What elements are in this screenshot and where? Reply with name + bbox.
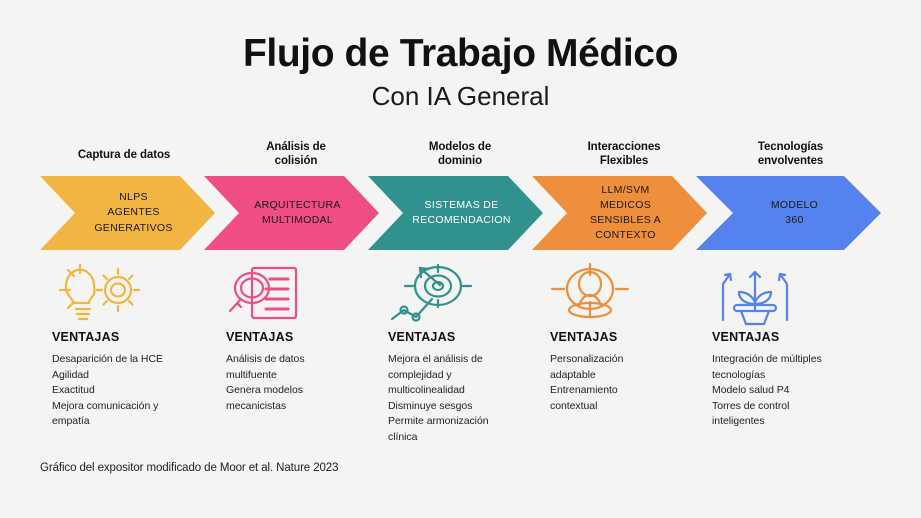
process-step-3-label: SISTEMAS DE RECOMENDACION (392, 198, 518, 228)
benefit-item: Mejora comunicación y (52, 399, 217, 415)
process-step-1-label: NLPS AGENTES GENERATIVOS (74, 190, 180, 236)
benefits-block-4: VENTAJAS Personalización adaptable Entre… (550, 330, 700, 414)
process-step-3[interactable]: SISTEMAS DE RECOMENDACION (368, 176, 543, 250)
benefits-list-2: Análisis de datos multifuente Genera mod… (226, 352, 376, 414)
benefits-list-4: Personalización adaptable Entrenamiento … (550, 352, 700, 414)
benefit-item: Exactitud (52, 383, 217, 399)
benefit-item: empatía (52, 414, 217, 430)
person-target-icon (550, 262, 630, 329)
benefit-item: Mejora el análisis de (388, 352, 548, 368)
benefit-item: clínica (388, 430, 548, 446)
process-step-1[interactable]: NLPS AGENTES GENERATIVOS (40, 176, 215, 250)
process-arrow-band: NLPS AGENTES GENERATIVOS ARQUITECTURA MU… (0, 176, 921, 250)
benefit-item: Personalización (550, 352, 700, 368)
page-subtitle: Con IA General (0, 82, 921, 111)
benefits-block-2: VENTAJAS Análisis de datos multifuente G… (226, 330, 376, 414)
step-header-4: InteraccionesFlexibles (544, 140, 704, 169)
page-title: Flujo de Trabajo Médico (0, 33, 921, 76)
benefit-item: mecanicistas (226, 399, 376, 415)
source-caption: Gráfico del expositor modificado de Moor… (40, 462, 338, 474)
lightbulb-gear-icon (52, 262, 156, 329)
benefit-item: Genera modelos (226, 383, 376, 399)
benefit-item: Disminuye sesgos (388, 399, 548, 415)
benefit-item: adaptable (550, 368, 700, 384)
benefit-item: Modelo salud P4 (712, 383, 882, 399)
benefits-title-3: VENTAJAS (388, 330, 548, 344)
benefits-block-5: VENTAJAS Integración de múltiples tecnol… (712, 330, 882, 430)
benefit-item: complejidad y (388, 368, 548, 384)
benefit-item: inteligentes (712, 414, 882, 430)
benefits-title-1: VENTAJAS (52, 330, 217, 344)
benefit-item: multifuente (226, 368, 376, 384)
step-header-3: Modelos dedominio (380, 140, 540, 169)
benefits-block-3: VENTAJAS Mejora el análisis de complejid… (388, 330, 548, 445)
benefit-item: contextual (550, 399, 700, 415)
benefit-item: Desaparición de la HCE (52, 352, 217, 368)
magnifier-document-icon (226, 262, 316, 329)
benefit-item: tecnologías (712, 368, 882, 384)
benefit-item: Entrenamiento (550, 383, 700, 399)
infographic-canvas: Flujo de Trabajo Médico Con IA General C… (0, 0, 921, 518)
benefits-title-2: VENTAJAS (226, 330, 376, 344)
step-header-5: Tecnologíasenvolventes (708, 140, 873, 169)
benefit-item: Torres de control (712, 399, 882, 415)
benefits-list-1: Desaparición de la HCE Agilidad Exactitu… (52, 352, 217, 430)
benefit-item: Integración de múltiples (712, 352, 882, 368)
plant-growth-icon (712, 262, 798, 331)
benefits-block-1: VENTAJAS Desaparición de la HCE Agilidad… (52, 330, 217, 430)
benefits-title-5: VENTAJAS (712, 330, 882, 344)
process-step-4-label: LLM/SVM MEDICOS SENSIBLES A CONTEXTO (570, 183, 669, 244)
target-arrow-network-icon (388, 262, 480, 331)
step-header-1: Captura de datos (44, 148, 204, 162)
benefit-item: multicolinealidad (388, 383, 548, 399)
benefit-item: Análisis de datos (226, 352, 376, 368)
benefits-list-5: Integración de múltiples tecnologías Mod… (712, 352, 882, 430)
process-step-5-label: MODELO 360 (751, 198, 826, 228)
benefit-item: Permite armonización (388, 414, 548, 430)
benefits-title-4: VENTAJAS (550, 330, 700, 344)
process-step-2[interactable]: ARQUITECTURA MULTIMODAL (204, 176, 379, 250)
step-header-2: Análisis decolisión (216, 140, 376, 169)
benefits-list-3: Mejora el análisis de complejidad y mult… (388, 352, 548, 445)
process-step-2-label: ARQUITECTURA MULTIMODAL (234, 198, 348, 228)
process-step-5[interactable]: MODELO 360 (696, 176, 881, 250)
benefit-item: Agilidad (52, 368, 217, 384)
process-step-4[interactable]: LLM/SVM MEDICOS SENSIBLES A CONTEXTO (532, 176, 707, 250)
